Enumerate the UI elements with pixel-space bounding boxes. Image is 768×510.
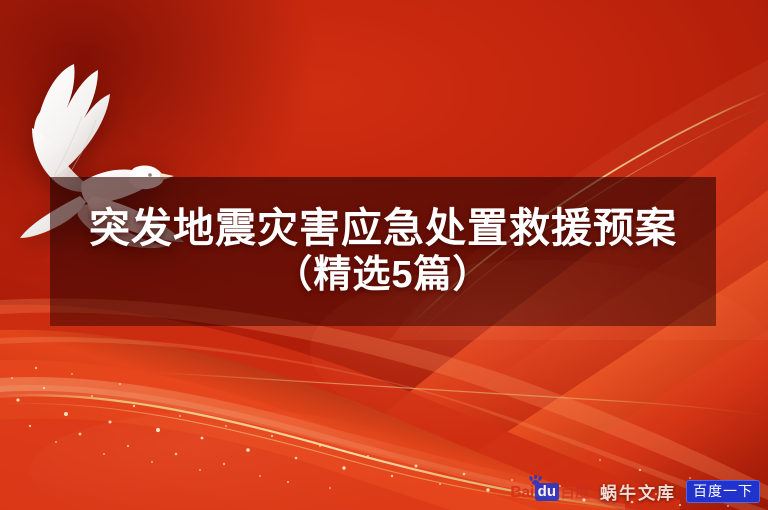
baidu-logo-cn: 百度 — [560, 485, 590, 502]
title-block: 突发地震灾害应急处置救援预案 （精选5篇） — [50, 177, 716, 326]
baidu-logo-bai: Bai — [510, 485, 533, 501]
baidu-paw-icon — [528, 475, 544, 485]
baidu-logo[interactable]: Bai du 百度 — [510, 481, 590, 501]
brand-name: 蜗牛文库 — [600, 479, 676, 504]
page-title-line-2: （精选5篇） — [274, 254, 491, 298]
page-title-line-1: 突发地震灾害应急处置救援预案 — [89, 205, 677, 252]
watermark-bar: Bai du 百度 蜗牛文库 百度一下 — [510, 478, 760, 504]
baidu-search-button[interactable]: 百度一下 — [686, 480, 760, 503]
baidu-logo-du: du — [535, 483, 559, 501]
poster-canvas: 突发地震灾害应急处置救援预案 （精选5篇） Bai du 百度 蜗牛文库 百度一… — [0, 0, 768, 510]
